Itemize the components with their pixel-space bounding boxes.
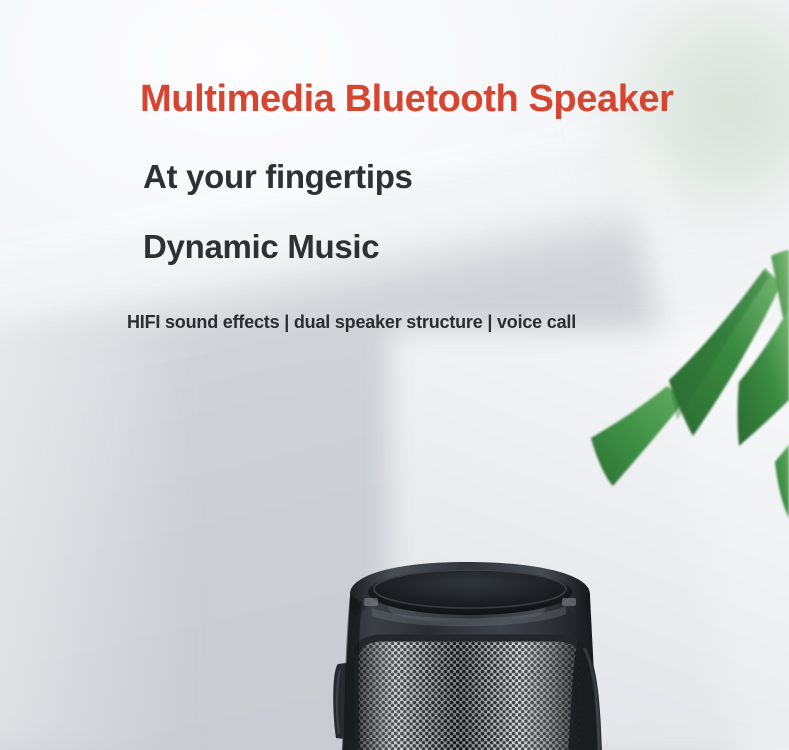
page-title: Multimedia Bluetooth Speaker xyxy=(140,80,674,120)
speaker-rim-tab-right xyxy=(562,598,576,606)
bluetooth-speaker xyxy=(332,552,672,750)
subheadline-secondary: Dynamic Music xyxy=(143,228,379,266)
product-banner: Multimedia Bluetooth Speaker At your fin… xyxy=(0,0,789,750)
background-left-wash xyxy=(0,330,170,750)
speaker-grille xyxy=(352,634,588,750)
speaker-rim-tab-left xyxy=(364,598,378,606)
feature-list: HIFI sound effects | dual speaker struct… xyxy=(127,312,576,333)
subheadline-primary: At your fingertips xyxy=(143,158,413,196)
